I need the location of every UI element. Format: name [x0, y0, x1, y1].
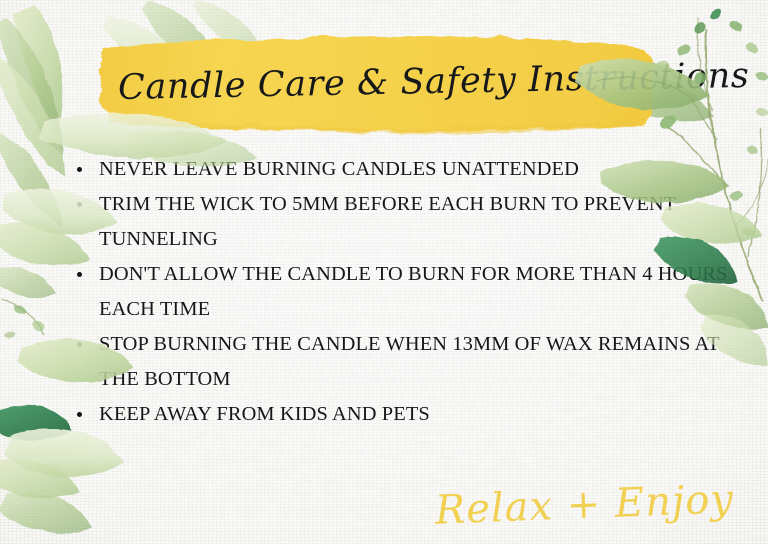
leaf: [0, 493, 92, 533]
page-title: Candle Care & Safety Instructions: [117, 43, 638, 125]
instructions-list: Never leave burning candles unattended T…: [70, 152, 742, 432]
candle-care-card: Candle Care & Safety Instructions Never …: [0, 0, 768, 544]
leaf: [4, 428, 124, 477]
footer-script-text: Relax + Enjoy: [434, 476, 735, 533]
leaf: [0, 459, 80, 499]
list-item: Don't allow the candle to burn for more …: [70, 257, 742, 327]
list-item: Stop burning the candle when 13mm of wax…: [70, 327, 742, 397]
list-item: Never leave burning candles unattended: [70, 152, 742, 187]
leaf: [0, 405, 72, 440]
list-item: Trim the wick to 5mm before each burn to…: [70, 187, 742, 257]
list-item: Keep away from kids and pets: [70, 397, 742, 432]
leaf: [0, 267, 56, 297]
